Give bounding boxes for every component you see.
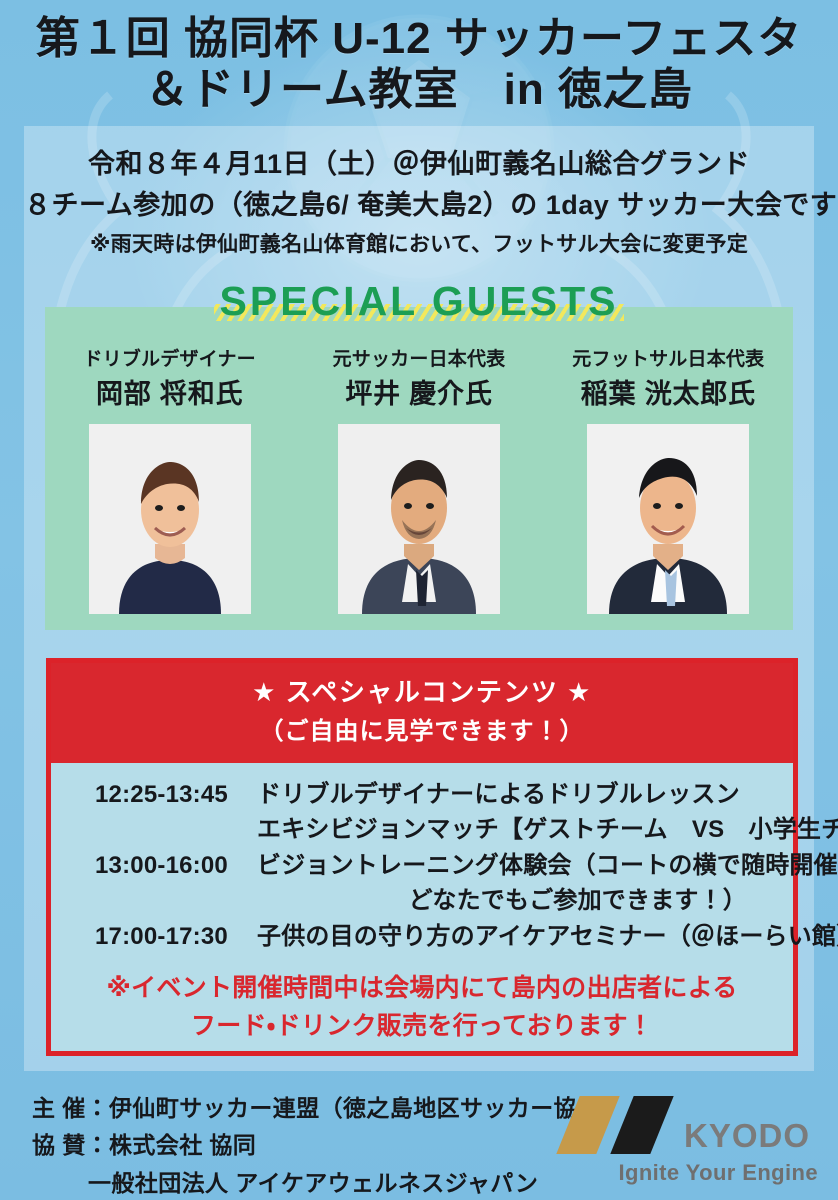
schedule-row: エキシビジョンマッチ【ゲストチーム VS 小学生チーム】 <box>51 812 793 848</box>
logo-wordmark: KYODO <box>684 1119 810 1154</box>
organizer-line: 主 催：伊仙町サッカー連盟（徳之島地区サッカー協会） <box>32 1090 624 1127</box>
schedule-row: 17:00-17:30 子供の目の守り方のアイケアセミナー（＠ほーらい館） <box>51 919 793 955</box>
food-drink-notice: ※イベント開催時間中は会場内にて島内の出店者による フード・ドリンク販売を行って… <box>51 970 793 1045</box>
schedule-description: エキシビジョンマッチ【ゲストチーム VS 小学生チーム】 <box>257 812 838 848</box>
guest-role: ドリブルデザイナー <box>51 348 289 372</box>
guest-card: 元フットサル日本代表 稲葉 洸太郎氏 <box>549 348 787 614</box>
intro-date-venue: 令和８年４月11日（土）＠伊仙町義名山総合グランド <box>24 144 814 185</box>
guest-portrait-photo <box>587 424 749 614</box>
guest-card: 元サッカー日本代表 坪井 慶介氏 <box>300 348 538 614</box>
food-drink-notice-line-1: ※イベント開催時間中は会場内にて島内の出店者による <box>51 970 793 1008</box>
schedule-list: 12:25-13:45 ドリブルデザイナーによるドリブルレッスン エキシビジョン… <box>51 763 793 1046</box>
special-guests-title: SPECIAL GUESTS <box>220 278 619 324</box>
title-line-1: 第１回 協同杯 U-12 サッカーフェスタ <box>36 14 802 63</box>
schedule-description: ビジョントレーニング体験会（コートの横で随時開催！ <box>257 848 838 884</box>
guest-portrait-photo <box>89 424 251 614</box>
special-contents-header: ★ スペシャルコンテンツ ★ （ご自由に見学できます！） <box>51 663 793 763</box>
special-contents-subtitle: （ご自由に見学できます！） <box>51 714 793 750</box>
event-intro: 令和８年４月11日（土）＠伊仙町義名山総合グランド ８チーム参加の（徳之島6/ … <box>24 144 814 264</box>
logo-slash-gold-icon <box>556 1096 619 1154</box>
guest-role: 元フットサル日本代表 <box>549 348 787 372</box>
food-drink-notice-line-2: フード・ドリンク販売を行っております！ <box>51 1008 793 1046</box>
guest-portrait-photo <box>338 424 500 614</box>
title-line-2: ＆ドリーム教室 in 徳之島 <box>145 65 693 114</box>
guest-role: 元サッカー日本代表 <box>300 348 538 372</box>
poster-footer: 主 催：伊仙町サッカー連盟（徳之島地区サッカー協会） 協 賛：株式会社 協同 一… <box>0 1080 838 1200</box>
guest-card: ドリブルデザイナー 岡部 将和氏 <box>51 348 289 614</box>
schedule-description: ドリブルデザイナーによるドリブルレッスン <box>257 777 740 813</box>
poster-title: 第１回 協同杯 U-12 サッカーフェスタ ＆ドリーム教室 in 徳之島 <box>0 0 838 128</box>
schedule-description: どなたでもご参加できます！） <box>409 883 747 919</box>
schedule-row: どなたでもご参加できます！） <box>51 883 793 919</box>
sponsor-line-secondary: 一般社団法人 アイケアウェルネスジャパン <box>32 1165 624 1200</box>
special-contents-box: ★ スペシャルコンテンツ ★ （ご自由に見学できます！） 12:25-13:45… <box>46 658 798 1056</box>
guest-name: 稲葉 洸太郎氏 <box>549 376 787 414</box>
special-guests-heading: SPECIAL GUESTS <box>24 278 814 334</box>
event-poster: 第１回 協同杯 U-12 サッカーフェスタ ＆ドリーム教室 in 徳之島 令和８… <box>0 0 838 1200</box>
schedule-time: 17:00-17:30 <box>95 919 257 955</box>
guest-list: ドリブルデザイナー 岡部 将和氏 元サッカー日本代表 坪井 慶介氏 <box>45 348 793 614</box>
kyodo-logo: KYODO Ignite Your Engine <box>562 1092 820 1192</box>
schedule-row: 13:00-16:00 ビジョントレーニング体験会（コートの横で随時開催！ <box>51 848 793 884</box>
organizer-info: 主 催：伊仙町サッカー連盟（徳之島地区サッカー協会） 協 賛：株式会社 協同 一… <box>32 1090 624 1200</box>
schedule-time: 13:00-16:00 <box>95 848 257 884</box>
special-contents-title: ★ スペシャルコンテンツ ★ <box>51 674 793 712</box>
guest-name: 岡部 将和氏 <box>51 376 289 414</box>
schedule-time: 12:25-13:45 <box>95 777 257 813</box>
schedule-description: 子供の目の守り方のアイケアセミナー（＠ほーらい館） <box>257 919 838 955</box>
intro-teams: ８チーム参加の（徳之島6/ 奄美大島2）の 1day サッカー大会です！ <box>24 185 814 226</box>
sponsor-line: 協 賛：株式会社 協同 <box>32 1127 624 1164</box>
intro-rain-notice: ※雨天時は伊仙町義名山体育館において、フットサル大会に変更予定 <box>24 226 814 264</box>
logo-tagline: Ignite Your Engine <box>562 1160 820 1186</box>
schedule-row: 12:25-13:45 ドリブルデザイナーによるドリブルレッスン <box>51 777 793 813</box>
guest-name: 坪井 慶介氏 <box>300 376 538 414</box>
logo-slash-black-icon <box>610 1096 673 1154</box>
